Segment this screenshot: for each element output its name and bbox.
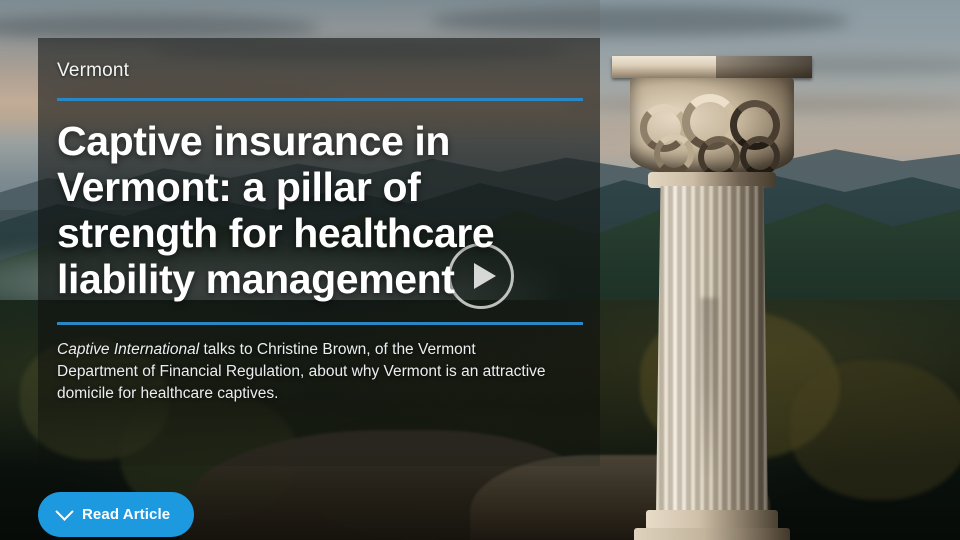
accent-rule-top (57, 98, 583, 101)
card-content: Vermont Captive insurance in Vermont: a … (57, 60, 585, 405)
column-abacus-shadow (716, 56, 812, 78)
marble-column (612, 48, 812, 540)
column-capital (630, 78, 794, 176)
cloud (430, 6, 850, 36)
card-description: Captive International talks to Christine… (57, 339, 557, 405)
foliage-clump (790, 360, 960, 500)
publication-name: Captive International (57, 341, 199, 358)
page-title: Captive insurance in Vermont: a pillar o… (57, 118, 577, 302)
hero-video-card: Vermont Captive insurance in Vermont: a … (0, 0, 960, 540)
capital-acanthus (740, 136, 780, 176)
capital-acanthus (654, 134, 694, 174)
column-base-upper (646, 510, 778, 530)
read-article-label: Read Article (82, 506, 170, 523)
accent-rule-bottom (57, 322, 583, 325)
chevron-down-icon (55, 502, 73, 520)
column-base-lower (634, 528, 790, 540)
column-marble-vein (700, 298, 718, 478)
eyebrow-label: Vermont (57, 60, 585, 82)
read-article-button[interactable]: Read Article (38, 492, 194, 537)
column-neck (648, 172, 776, 188)
